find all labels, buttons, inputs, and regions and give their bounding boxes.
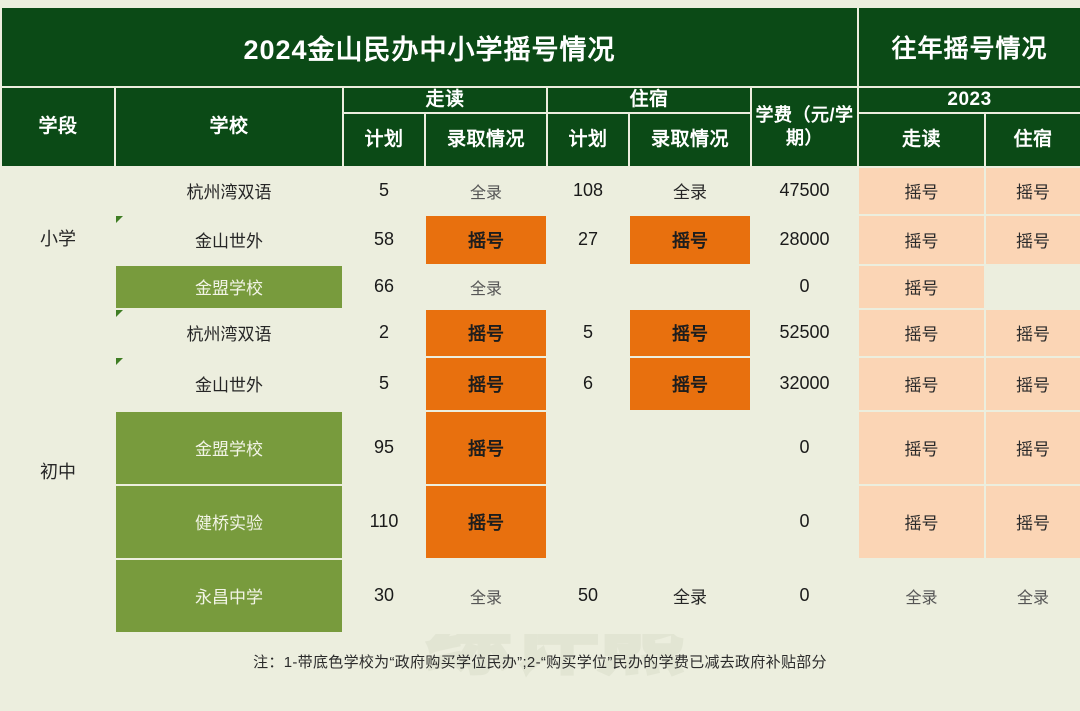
tuition-cell: 0 [751, 411, 858, 485]
day-result-cell: 摇号 [425, 485, 547, 559]
table-row: 金山世外5摇号6摇号32000摇号摇号 [1, 357, 1080, 411]
lottery-table: 2024金山民办中小学摇号情况 往年摇号情况 学段 学校 走读 住宿 学费（元/… [0, 6, 1080, 634]
table-row: 金山世外58摇号27摇号28000摇号摇号 [1, 215, 1080, 265]
table-row: 健桥实验110摇号0摇号摇号 [1, 485, 1080, 559]
school-name-cell: 健桥实验 [115, 485, 343, 559]
col-header-day-plan: 计划 [343, 113, 425, 167]
table-body: 小学杭州湾双语5全录108全录47500摇号摇号金山世外58摇号27摇号2800… [1, 167, 1080, 633]
boarding-plan-cell: 108 [547, 167, 629, 215]
previous-years-title: 往年摇号情况 [858, 7, 1080, 87]
school-name-cell: 金山世外 [115, 357, 343, 411]
footer-note: 注：1-带底色学校为“政府购买学位民办”;2-“购买学位”民办的学费已减去政府补… [0, 634, 1080, 672]
prev-day-cell: 摇号 [858, 215, 985, 265]
day-result-cell: 摇号 [425, 357, 547, 411]
prev-boarding-cell: 摇号 [985, 215, 1080, 265]
col-header-prev-boarding: 住宿 [985, 113, 1080, 167]
prev-boarding-cell [985, 265, 1080, 309]
tuition-cell: 0 [751, 265, 858, 309]
boarding-plan-cell [547, 485, 629, 559]
boarding-result-cell [629, 485, 751, 559]
boarding-plan-cell: 50 [547, 559, 629, 633]
boarding-result-cell: 摇号 [629, 309, 751, 357]
day-plan-cell: 5 [343, 167, 425, 215]
day-result-cell: 全录 [425, 559, 547, 633]
day-result-cell: 摇号 [425, 411, 547, 485]
boarding-plan-cell [547, 265, 629, 309]
prev-boarding-cell: 摇号 [985, 309, 1080, 357]
day-plan-cell: 110 [343, 485, 425, 559]
boarding-plan-cell: 5 [547, 309, 629, 357]
prev-boarding-cell: 摇号 [985, 167, 1080, 215]
day-result-cell: 全录 [425, 167, 547, 215]
day-plan-cell: 58 [343, 215, 425, 265]
table-row: 初中杭州湾双语2摇号5摇号52500摇号摇号 [1, 309, 1080, 357]
boarding-result-cell: 摇号 [629, 215, 751, 265]
day-result-cell: 摇号 [425, 215, 547, 265]
table-sheet: 综评熊 2024金山民办中小学摇号情况 往年摇号情况 学段 学校 走读 住宿 学… [0, 0, 1080, 711]
boarding-result-cell [629, 265, 751, 309]
col-header-boarding-plan: 计划 [547, 113, 629, 167]
day-plan-cell: 66 [343, 265, 425, 309]
prev-day-cell: 摇号 [858, 485, 985, 559]
boarding-plan-cell: 6 [547, 357, 629, 411]
col-header-school: 学校 [115, 87, 343, 167]
prev-day-cell: 摇号 [858, 167, 985, 215]
col-header-stage: 学段 [1, 87, 115, 167]
prev-boarding-cell: 摇号 [985, 485, 1080, 559]
col-header-year-2023: 2023 [858, 87, 1080, 113]
prev-boarding-cell: 摇号 [985, 357, 1080, 411]
boarding-result-cell [629, 411, 751, 485]
school-name-cell: 永昌中学 [115, 559, 343, 633]
school-name-cell: 杭州湾双语 [115, 167, 343, 215]
prev-day-cell: 摇号 [858, 265, 985, 309]
day-result-cell: 摇号 [425, 309, 547, 357]
tuition-cell: 0 [751, 559, 858, 633]
school-name-cell: 杭州湾双语 [115, 309, 343, 357]
day-plan-cell: 2 [343, 309, 425, 357]
col-header-boarding: 住宿 [547, 87, 751, 113]
title-row: 2024金山民办中小学摇号情况 往年摇号情况 [1, 7, 1080, 87]
page-title: 2024金山民办中小学摇号情况 [1, 7, 858, 87]
day-plan-cell: 5 [343, 357, 425, 411]
col-header-day-result: 录取情况 [425, 113, 547, 167]
prev-day-cell: 摇号 [858, 309, 985, 357]
table-row: 金盟学校95摇号0摇号摇号 [1, 411, 1080, 485]
school-name-cell: 金盟学校 [115, 411, 343, 485]
stage-cell-primary: 小学 [1, 167, 115, 309]
day-plan-cell: 95 [343, 411, 425, 485]
tuition-cell: 0 [751, 485, 858, 559]
tuition-cell: 52500 [751, 309, 858, 357]
boarding-result-cell: 全录 [629, 167, 751, 215]
day-result-cell: 全录 [425, 265, 547, 309]
col-header-day-study: 走读 [343, 87, 547, 113]
boarding-result-cell: 摇号 [629, 357, 751, 411]
tuition-cell: 47500 [751, 167, 858, 215]
school-name-cell: 金山世外 [115, 215, 343, 265]
prev-day-cell: 全录 [858, 559, 985, 633]
tuition-cell: 28000 [751, 215, 858, 265]
prev-day-cell: 摇号 [858, 357, 985, 411]
stage-cell-junior: 初中 [1, 309, 115, 633]
header-row-1: 学段 学校 走读 住宿 学费（元/学期） 2023 [1, 87, 1080, 113]
prev-boarding-cell: 摇号 [985, 411, 1080, 485]
table-row: 小学杭州湾双语5全录108全录47500摇号摇号 [1, 167, 1080, 215]
boarding-plan-cell: 27 [547, 215, 629, 265]
prev-day-cell: 摇号 [858, 411, 985, 485]
table-row: 永昌中学30全录50全录0全录全录 [1, 559, 1080, 633]
school-name-cell: 金盟学校 [115, 265, 343, 309]
boarding-plan-cell [547, 411, 629, 485]
prev-boarding-cell: 全录 [985, 559, 1080, 633]
tuition-cell: 32000 [751, 357, 858, 411]
table-row: 金盟学校66全录0摇号 [1, 265, 1080, 309]
boarding-result-cell: 全录 [629, 559, 751, 633]
col-header-boarding-result: 录取情况 [629, 113, 751, 167]
col-header-prev-day: 走读 [858, 113, 985, 167]
col-header-tuition: 学费（元/学期） [751, 87, 858, 167]
day-plan-cell: 30 [343, 559, 425, 633]
